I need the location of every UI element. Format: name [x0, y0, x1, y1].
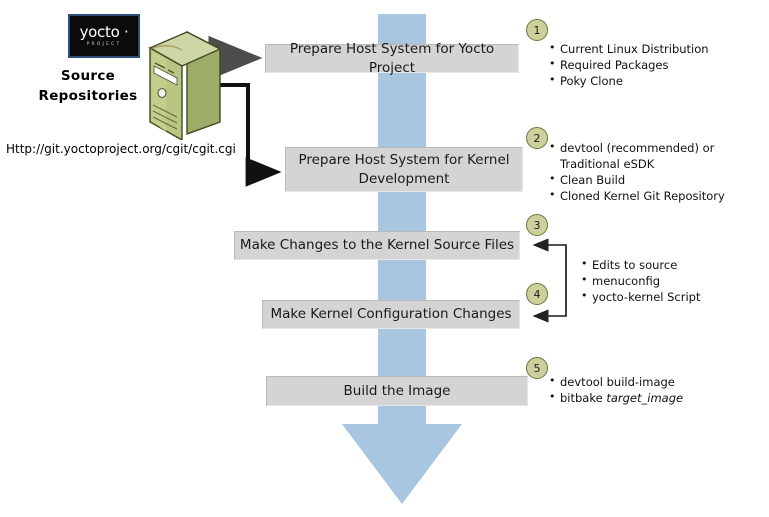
- step-badge-5: 5: [526, 357, 548, 379]
- box2-label-line2: Development: [359, 171, 450, 187]
- box1-label: Prepare Host System for Yocto Project: [266, 40, 518, 78]
- list-item: Clean Build: [548, 172, 760, 188]
- box4-label: Make Kernel Configuration Changes: [270, 305, 511, 324]
- step34-shared-bullet-list: Edits to source menuconfig yocto-kernel …: [580, 257, 760, 305]
- list-item: menuconfig: [580, 273, 760, 289]
- step-badge-4: 4: [526, 283, 548, 305]
- connector-bracket-to-box4: [535, 245, 566, 316]
- list-item: devtool build-image: [548, 374, 760, 390]
- process-box-make-config-changes[interactable]: Make Kernel Configuration Changes: [262, 300, 520, 329]
- list-item: Edits to source: [580, 257, 760, 273]
- source-label-line1: Source: [30, 66, 146, 86]
- box5-label: Build the Image: [344, 382, 451, 401]
- server-tower-icon: [132, 22, 224, 140]
- process-box-build-image[interactable]: Build the Image: [266, 376, 528, 406]
- step-badge-1: 1: [526, 19, 548, 41]
- box2-label: Prepare Host System for Kernel Developme…: [298, 151, 509, 189]
- diagram-canvas: yocto · PROJECT Source Repositories Http…: [0, 0, 769, 517]
- process-box-prepare-host-yocto[interactable]: Prepare Host System for Yocto Project: [265, 44, 519, 73]
- step-badge-3: 3: [526, 214, 548, 236]
- process-box-make-source-changes[interactable]: Make Changes to the Kernel Source Files: [234, 231, 520, 260]
- box2-label-line1: Prepare Host System for Kernel: [298, 152, 509, 168]
- step1-bullet-list: Current Linux Distribution Required Pack…: [548, 41, 760, 89]
- step-badge-2: 2: [526, 127, 548, 149]
- list-item: Current Linux Distribution: [548, 41, 760, 57]
- list-item: bitbake target_image: [548, 390, 760, 406]
- source-repository-url: Http://git.yoctoproject.org/cgit/cgit.cg…: [6, 141, 236, 157]
- box3-label: Make Changes to the Kernel Source Files: [240, 236, 514, 255]
- process-box-prepare-host-kernel[interactable]: Prepare Host System for Kernel Developme…: [285, 147, 523, 192]
- yocto-project-logo: yocto · PROJECT: [68, 14, 140, 58]
- bitbake-command: bitbake: [560, 391, 606, 405]
- logo-wordmark: yocto ·: [80, 25, 129, 40]
- logo-subtitle: PROJECT: [87, 41, 122, 48]
- list-item-line1: devtool (recommended) or: [560, 140, 760, 156]
- list-item: yocto-kernel Script: [580, 289, 760, 305]
- list-item: Required Packages: [548, 57, 760, 73]
- step5-bullet-list: devtool build-image bitbake target_image: [548, 374, 760, 406]
- list-item: Cloned Kernel Git Repository: [548, 188, 760, 204]
- source-repositories-label: Source Repositories: [30, 66, 146, 106]
- list-item: Poky Clone: [548, 73, 760, 89]
- source-label-line2: Repositories: [30, 86, 146, 106]
- connector-bracket-to-box3: [535, 245, 566, 316]
- step2-bullet-list: devtool (recommended) or Traditional eSD…: [548, 140, 760, 204]
- bitbake-target-argument: target_image: [606, 391, 683, 405]
- list-item: devtool (recommended) or Traditional eSD…: [548, 140, 760, 172]
- list-item-line2: Traditional eSDK: [560, 156, 760, 172]
